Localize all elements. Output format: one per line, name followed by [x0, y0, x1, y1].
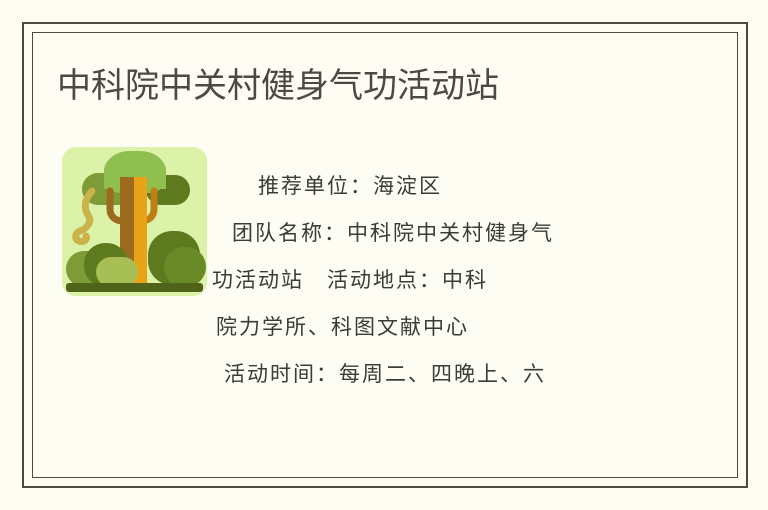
info-line-team-name: 团队名称：中科院中关村健身气 [212, 210, 662, 257]
info-line-location: 院力学所、科图文献中心 [212, 304, 662, 351]
activity-station-card: 中科院中关村健身气功活动站 [0, 0, 768, 510]
tree-icon [62, 147, 207, 296]
page-title: 中科院中关村健身气功活动站 [57, 64, 499, 108]
activity-info-block: 推荐单位：海淀区 团队名称：中科院中关村健身气 功活动站 活动地点：中科 院力学… [212, 163, 662, 403]
info-line-activity-time: 活动时间：每周二、四晚上、六 [212, 351, 662, 398]
info-line-recommending-unit: 推荐单位：海淀区 [212, 163, 662, 210]
info-line-team-name-cont: 功活动站 活动地点：中科 [212, 257, 662, 304]
